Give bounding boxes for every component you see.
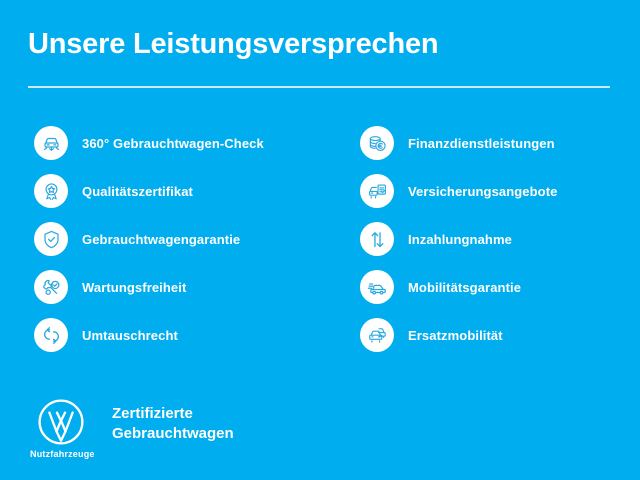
- benefit-item: Umtauschrecht: [34, 318, 264, 352]
- vw-roundel-icon: [37, 398, 85, 446]
- benefit-label: Versicherungsangebote: [408, 184, 557, 199]
- benefit-label: Inzahlungnahme: [408, 232, 512, 247]
- benefit-label: Mobilitätsgarantie: [408, 280, 521, 295]
- footer-branding: Nutzfahrzeuge Zertifizierte Gebrauchtwag…: [30, 398, 234, 459]
- exchange-arrows-icon: [34, 318, 68, 352]
- benefit-item: Mobilitätsgarantie: [360, 270, 557, 304]
- up-down-arrows-icon: [360, 222, 394, 256]
- benefit-item: 360° Gebrauchtwagen-Check: [34, 126, 264, 160]
- car-checklist-icon: [360, 174, 394, 208]
- moving-car-icon: [360, 270, 394, 304]
- wrench-check-icon: [34, 270, 68, 304]
- benefit-label: Umtauschrecht: [82, 328, 178, 343]
- award-rosette-icon: [34, 174, 68, 208]
- footer-claim-line2: Gebrauchtwagen: [112, 424, 234, 444]
- brand-subtitle: Nutzfahrzeuge: [30, 449, 92, 459]
- footer-claim-line1: Zertifizierte: [112, 404, 234, 424]
- title-divider: [28, 86, 610, 88]
- car-check-360-icon: [34, 126, 68, 160]
- benefit-label: Finanzdienstleistungen: [408, 136, 555, 151]
- benefit-label: Ersatzmobilität: [408, 328, 503, 343]
- shield-check-icon: [34, 222, 68, 256]
- benefit-label: 360° Gebrauchtwagen-Check: [82, 136, 264, 151]
- benefit-label: Qualitätszertifikat: [82, 184, 193, 199]
- brand-mark: Nutzfahrzeuge: [30, 398, 92, 459]
- benefit-item: Gebrauchtwagengarantie: [34, 222, 264, 256]
- benefit-item: Wartungsfreiheit: [34, 270, 264, 304]
- benefit-label: Wartungsfreiheit: [82, 280, 186, 295]
- benefit-list-right: Finanzdienstleistungen Versicherungsange…: [360, 126, 557, 366]
- benefit-item: Versicherungsangebote: [360, 174, 557, 208]
- benefit-item: Inzahlungnahme: [360, 222, 557, 256]
- benefit-item: Ersatzmobilität: [360, 318, 557, 352]
- benefit-list-left: 360° Gebrauchtwagen-Check Qualitätszerti…: [34, 126, 264, 366]
- coins-euro-icon: [360, 126, 394, 160]
- benefit-label: Gebrauchtwagengarantie: [82, 232, 240, 247]
- two-cars-icon: [360, 318, 394, 352]
- promotional-banner: Unsere Leistungsversprechen 360° Gebrauc…: [0, 0, 640, 480]
- footer-claim: Zertifizierte Gebrauchtwagen: [112, 404, 234, 444]
- benefit-item: Finanzdienstleistungen: [360, 126, 557, 160]
- benefit-item: Qualitätszertifikat: [34, 174, 264, 208]
- page-title: Unsere Leistungsversprechen: [28, 28, 438, 61]
